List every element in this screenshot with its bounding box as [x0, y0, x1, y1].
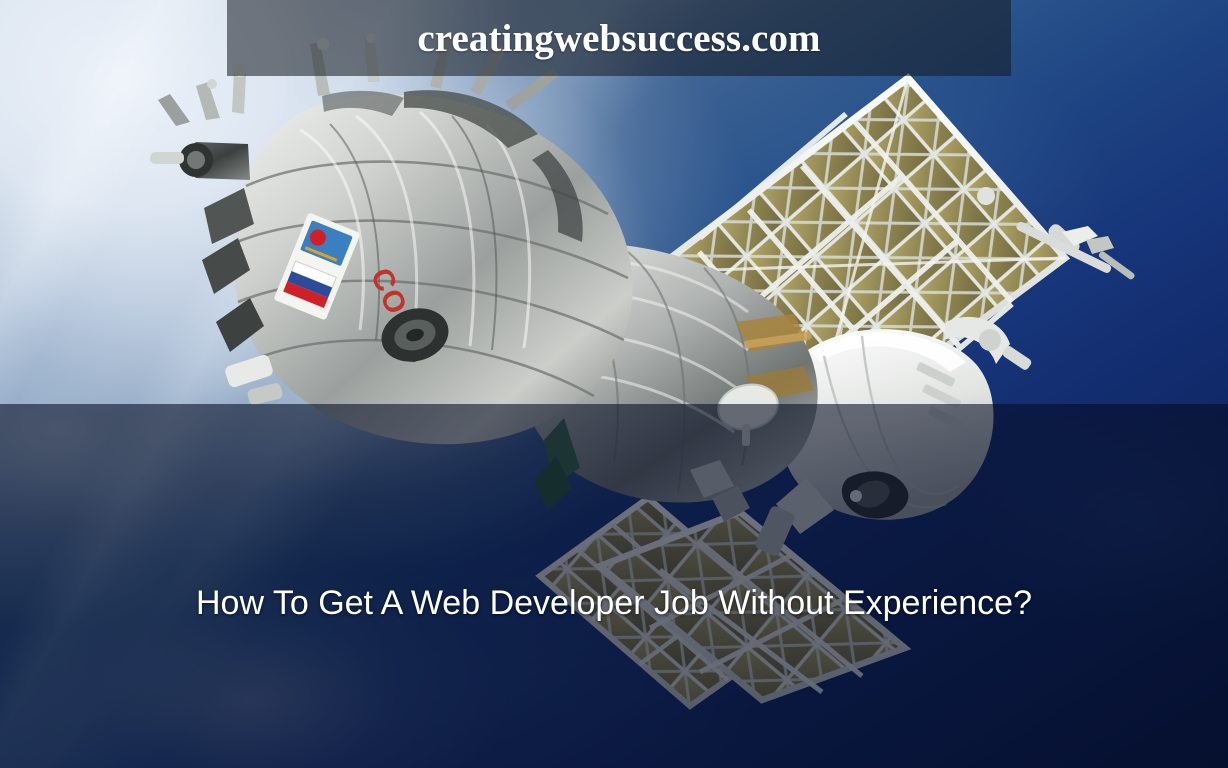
- site-url-banner: creatingwebsuccess.com: [227, 0, 1011, 76]
- site-url-text: creatingwebsuccess.com: [417, 19, 820, 58]
- featured-image-canvas: СОЮЗ: [0, 0, 1228, 768]
- dark-overlay-band: [0, 404, 1228, 768]
